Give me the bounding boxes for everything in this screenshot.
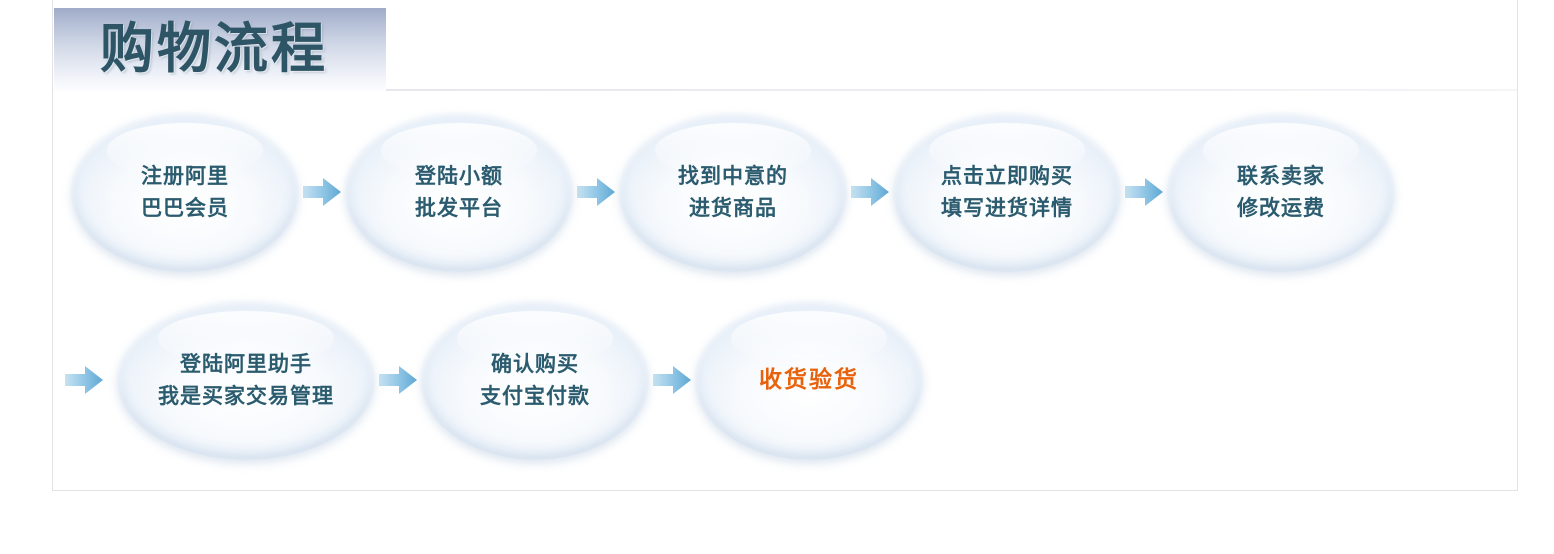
flow-node-label: 登陆阿里助手 我是买家交易管理 <box>158 348 334 412</box>
flow-node-receive-inspect-goods[interactable]: 收货验货 <box>695 300 923 460</box>
flow-node-label: 联系卖家 修改运费 <box>1237 160 1325 224</box>
right-arrow-icon <box>375 360 421 400</box>
flow-node-register-alibaba-member[interactable]: 注册阿里 巴巴会员 <box>71 112 299 272</box>
flow-node-label: 点击立即购买 填写进货详情 <box>941 160 1073 224</box>
right-arrow-icon <box>649 360 695 400</box>
flow-node-find-desired-goods[interactable]: 找到中意的 进货商品 <box>619 112 847 272</box>
right-arrow-icon <box>573 172 619 212</box>
flow-node-label: 注册阿里 巴巴会员 <box>141 160 229 224</box>
page-title: 购物流程 <box>100 19 328 79</box>
flow-node-confirm-purchase-alipay[interactable]: 确认购买 支付宝付款 <box>421 300 649 460</box>
flow-node-login-wholesale-platform[interactable]: 登陆小额 批发平台 <box>345 112 573 272</box>
flow-diagram: 注册阿里 巴巴会员 <box>53 92 1517 489</box>
flow-node-login-ali-assistant[interactable]: 登陆阿里助手 我是买家交易管理 <box>117 300 375 460</box>
shopping-flow-panel: 购物流程 注册阿里 巴巴会员 <box>52 0 1518 491</box>
flow-node-label: 确认购买 支付宝付款 <box>480 348 590 412</box>
flow-node-label: 登陆小额 批发平台 <box>415 160 503 224</box>
layout-spacer <box>107 380 117 381</box>
flow-node-label: 找到中意的 进货商品 <box>678 160 788 224</box>
flow-row-1: 注册阿里 巴巴会员 <box>53 102 1535 282</box>
flow-node-click-buy-now[interactable]: 点击立即购买 填写进货详情 <box>893 112 1121 272</box>
header-divider <box>386 89 1517 91</box>
flow-node-contact-seller-shipping[interactable]: 联系卖家 修改运费 <box>1167 112 1395 272</box>
header-tab: 购物流程 <box>54 8 386 91</box>
right-arrow-icon <box>299 172 345 212</box>
flow-node-label: 收货验货 <box>759 364 859 396</box>
right-arrow-icon <box>1121 172 1167 212</box>
right-arrow-icon-continuation <box>61 360 107 400</box>
flow-row-2: 登陆阿里助手 我是买家交易管理 确认购买 支付宝付款 收货验货 <box>53 290 1525 470</box>
page-root: 购物流程 注册阿里 巴巴会员 <box>0 0 1554 554</box>
right-arrow-icon <box>847 172 893 212</box>
